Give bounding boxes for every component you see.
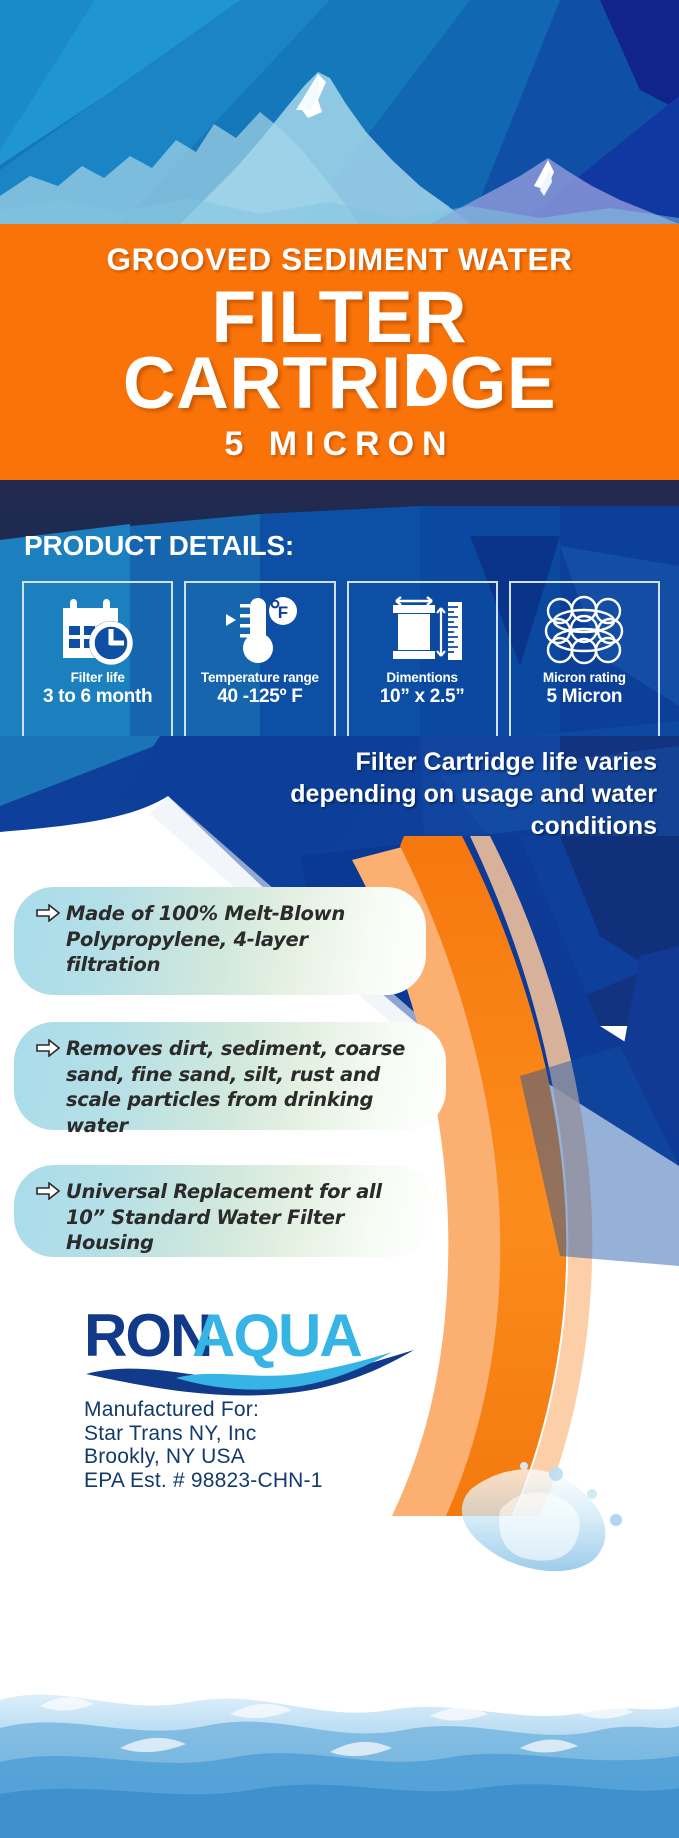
arrow-right-outline-icon xyxy=(36,1036,66,1062)
feature-text: Made of 100% Melt-Blown Polypropylene, 4… xyxy=(66,901,408,978)
water-drop-letter-d-icon xyxy=(403,352,449,408)
detail-label: Dimentions xyxy=(386,671,458,685)
detail-value: 40 -125º F xyxy=(217,687,302,708)
product-title-line2-after: GE xyxy=(450,349,556,419)
micron-mesh-circles-icon xyxy=(542,591,626,671)
arrow-right-outline-icon xyxy=(36,1179,66,1205)
thermometer-fahrenheit-icon: F xyxy=(221,591,299,671)
detail-label: Temperature range xyxy=(201,671,319,685)
product-details-boxes: Filter life 3 to 6 month F Temp xyxy=(22,581,660,738)
ronaqua-logo: RON AQUA xyxy=(84,1298,424,1398)
feature-text: Universal Replacement for all 10” Standa… xyxy=(66,1179,416,1256)
detail-label: Filter life xyxy=(71,671,125,685)
product-title-line2-before: CARTRI xyxy=(123,349,402,419)
feature-pill-2: Removes dirt, sediment, coarse sand, fin… xyxy=(14,1022,446,1130)
product-title-line2: CARTRI GE xyxy=(0,349,679,419)
cartridge-ruler-icon xyxy=(380,591,464,671)
detail-value: 3 to 6 month xyxy=(43,687,152,708)
product-details-heading: PRODUCT DETAILS: xyxy=(24,530,294,562)
manufacturer-footer-text: Manufactured For: Star Trans NY, Inc Bro… xyxy=(84,1398,323,1493)
detail-value: 10” x 2.5” xyxy=(380,687,465,708)
detail-box-micron-rating: Micron rating 5 Micron xyxy=(509,581,660,738)
calendar-clock-icon xyxy=(61,591,135,671)
detail-box-dimensions: Dimentions 10” x 2.5” xyxy=(347,581,498,738)
svg-text:F: F xyxy=(278,603,288,622)
product-title-band: GROOVED SEDIMENT WATER FILTER CARTRI GE … xyxy=(0,224,679,480)
logo-text-aqua: AQUA xyxy=(192,1302,361,1369)
detail-box-temperature-range: F Temperature range 40 -125º F xyxy=(184,581,335,738)
detail-label: Micron rating xyxy=(543,671,626,685)
micron-rating-headline: 5 MICRON xyxy=(0,425,679,464)
arrow-right-outline-icon xyxy=(36,901,66,927)
detail-box-filter-life: Filter life 3 to 6 month xyxy=(22,581,173,738)
detail-value: 5 Micron xyxy=(547,687,623,708)
feature-pill-3: Universal Replacement for all 10” Standa… xyxy=(14,1165,434,1257)
hero-mountain-banner xyxy=(0,0,679,224)
feature-text: Removes dirt, sediment, coarse sand, fin… xyxy=(66,1036,428,1139)
mountain-range-illustration xyxy=(0,0,679,224)
feature-pill-1: Made of 100% Melt-Blown Polypropylene, 4… xyxy=(14,887,426,995)
tagline-text: Filter Cartridge life varies depending o… xyxy=(227,746,657,842)
product-kicker: GROOVED SEDIMENT WATER xyxy=(0,224,679,276)
ronaqua-logo-svg: RON AQUA xyxy=(84,1298,424,1398)
